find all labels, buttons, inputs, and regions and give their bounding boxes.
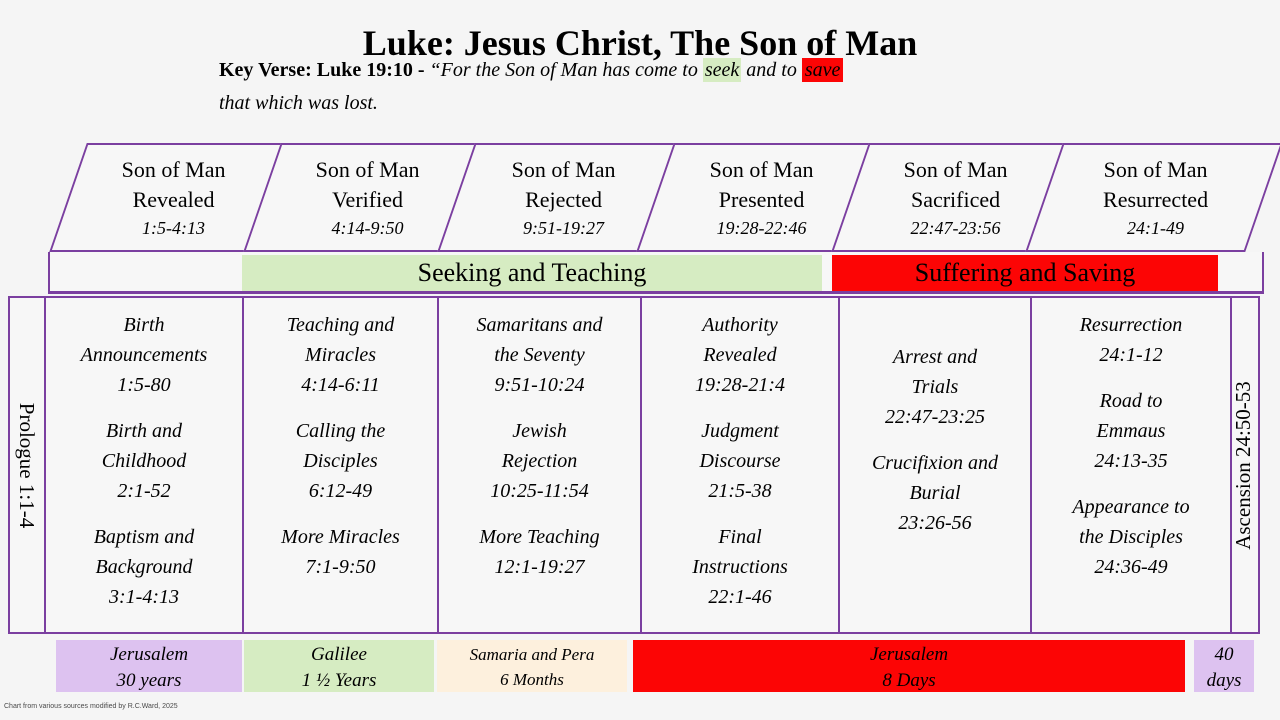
content-block-reference: 23:26-56 bbox=[846, 508, 1024, 538]
content-block-title-line: More Miracles bbox=[250, 522, 431, 552]
section-box-content: Son of ManVerified4:14-9:50 bbox=[266, 145, 470, 241]
content-column-1[interactable]: BirthAnnouncements1:5-80Birth andChildho… bbox=[46, 298, 242, 636]
content-block-title-line: Revealed bbox=[648, 340, 832, 370]
content-block: Birth andChildhood2:1-52 bbox=[52, 416, 236, 506]
main-content-grid: Prologue 1:1-4 Ascension 24:50-53 BirthA… bbox=[8, 296, 1260, 634]
content-block-title-line: Announcements bbox=[52, 340, 236, 370]
section-box-content: Son of ManRevealed1:5-4:13 bbox=[72, 145, 276, 241]
content-column-3[interactable]: Samaritans andthe Seventy9:51-10:24Jewis… bbox=[439, 298, 640, 636]
location-badge-1[interactable]: Jerusalem30 years bbox=[56, 640, 242, 692]
content-block: More Teaching12:1-19:27 bbox=[445, 522, 634, 582]
location-place: 40 bbox=[1194, 642, 1254, 668]
ascension-column: Ascension 24:50-53 bbox=[1228, 298, 1258, 632]
section-title-line1: Son of Man bbox=[266, 155, 470, 185]
section-reference: 1:5-4:13 bbox=[72, 215, 276, 241]
section-title-line1: Son of Man bbox=[72, 155, 276, 185]
content-block-reference: 9:51-10:24 bbox=[445, 370, 634, 400]
section-title-line2: Verified bbox=[266, 185, 470, 215]
content-block-title-line: Road to bbox=[1038, 386, 1224, 416]
section-title-line2: Presented bbox=[659, 185, 865, 215]
section-title-line2: Sacrificed bbox=[854, 185, 1058, 215]
content-block-title-line: Disciples bbox=[250, 446, 431, 476]
theme-band: Seeking and Teaching Suffering and Savin… bbox=[48, 252, 1264, 294]
key-verse-quote-mid: and to bbox=[741, 59, 802, 81]
content-block-title-line: Birth and bbox=[52, 416, 236, 446]
prologue-label: Prologue 1:1-4 bbox=[15, 402, 40, 527]
key-verse-highlight-save: save bbox=[802, 58, 844, 82]
content-block-title-line: More Teaching bbox=[445, 522, 634, 552]
content-block-reference: 21:5-38 bbox=[648, 476, 832, 506]
content-block: AuthorityRevealed19:28-21:4 bbox=[648, 310, 832, 400]
section-box-content: Son of ManResurrected24:1-49 bbox=[1048, 145, 1264, 241]
content-block-title-line: Birth bbox=[52, 310, 236, 340]
content-block-reference: 10:25-11:54 bbox=[445, 476, 634, 506]
content-block: Teaching andMiracles4:14-6:11 bbox=[250, 310, 431, 400]
content-block-reference: 7:1-9:50 bbox=[250, 552, 431, 582]
content-block: Arrest andTrials22:47-23:25 bbox=[846, 342, 1024, 432]
content-block: Resurrection24:1-12 bbox=[1038, 310, 1224, 370]
location-place: Jerusalem bbox=[633, 642, 1185, 668]
section-box-6[interactable]: Son of ManResurrected24:1-49 bbox=[1025, 143, 1280, 252]
section-title-line2: Resurrected bbox=[1048, 185, 1264, 215]
location-duration: 6 Months bbox=[437, 667, 627, 692]
content-block-title-line: Arrest and bbox=[846, 342, 1024, 372]
content-block-title-line: the Seventy bbox=[445, 340, 634, 370]
location-place: Galilee bbox=[244, 642, 434, 668]
content-block: Calling theDisciples6:12-49 bbox=[250, 416, 431, 506]
section-title-line1: Son of Man bbox=[854, 155, 1058, 185]
content-block-title-line: Background bbox=[52, 552, 236, 582]
key-verse: Key Verse: Luke 19:10 - “For the Son of … bbox=[219, 54, 1099, 120]
content-block-title-line: Emmaus bbox=[1038, 416, 1224, 446]
content-block-title-line: Baptism and bbox=[52, 522, 236, 552]
content-block-title-line: Trials bbox=[846, 372, 1024, 402]
content-block-title-line: Crucifixion and bbox=[846, 448, 1024, 478]
content-block-reference: 22:1-46 bbox=[648, 582, 832, 612]
content-block: Crucifixion andBurial23:26-56 bbox=[846, 448, 1024, 538]
content-block-title-line: Calling the bbox=[250, 416, 431, 446]
content-block: JudgmentDiscourse21:5-38 bbox=[648, 416, 832, 506]
key-verse-quote-open: “For the Son of Man has come to bbox=[430, 59, 703, 81]
key-verse-label: Key Verse: Luke 19:10 - bbox=[219, 59, 425, 81]
section-header-row: Son of ManRevealed1:5-4:13Son of ManVeri… bbox=[48, 143, 1264, 252]
content-block: More Miracles7:1-9:50 bbox=[250, 522, 431, 582]
content-block-title-line: Judgment bbox=[648, 416, 832, 446]
content-block-title-line: Authority bbox=[648, 310, 832, 340]
column-divider-7 bbox=[1230, 298, 1232, 632]
key-verse-highlight-seek: seek bbox=[703, 58, 741, 82]
prologue-column: Prologue 1:1-4 bbox=[10, 298, 44, 632]
location-badge-4[interactable]: Jerusalem8 Days bbox=[633, 640, 1185, 692]
credit-text: Chart from various sources modified by R… bbox=[4, 703, 178, 710]
content-block-reference: 3:1-4:13 bbox=[52, 582, 236, 612]
key-verse-quote-line2: that which was lost. bbox=[219, 87, 1099, 120]
content-block-title-line: Rejection bbox=[445, 446, 634, 476]
content-block-reference: 19:28-21:4 bbox=[648, 370, 832, 400]
location-duration: 1 ½ Years bbox=[244, 668, 434, 694]
content-block-title-line: Miracles bbox=[250, 340, 431, 370]
location-badge-2[interactable]: Galilee1 ½ Years bbox=[244, 640, 434, 692]
content-block-title-line: Teaching and bbox=[250, 310, 431, 340]
location-place: Jerusalem bbox=[56, 642, 242, 668]
location-duration: days bbox=[1194, 668, 1254, 694]
ascension-label: Ascension 24:50-53 bbox=[1231, 381, 1256, 550]
content-block-title-line: Burial bbox=[846, 478, 1024, 508]
content-block-reference: 24:1-12 bbox=[1038, 340, 1224, 370]
location-badge-3[interactable]: Samaria and Pera6 Months bbox=[437, 640, 627, 692]
content-block-title-line: Samaritans and bbox=[445, 310, 634, 340]
section-title-line2: Revealed bbox=[72, 185, 276, 215]
section-title-line2: Rejected bbox=[460, 185, 668, 215]
location-badge-5[interactable]: 40days bbox=[1194, 640, 1254, 692]
section-reference: 22:47-23:56 bbox=[854, 215, 1058, 241]
section-box-content: Son of ManPresented19:28-22:46 bbox=[659, 145, 865, 241]
location-duration: 8 Days bbox=[633, 668, 1185, 694]
content-block-title-line: the Disciples bbox=[1038, 522, 1224, 552]
content-block-reference: 1:5-80 bbox=[52, 370, 236, 400]
content-column-5[interactable]: Arrest andTrials22:47-23:25Crucifixion a… bbox=[840, 298, 1030, 636]
section-box-content: Son of ManRejected9:51-19:27 bbox=[460, 145, 668, 241]
content-column-2[interactable]: Teaching andMiracles4:14-6:11Calling the… bbox=[244, 298, 437, 636]
content-block: Samaritans andthe Seventy9:51-10:24 bbox=[445, 310, 634, 400]
content-block-reference: 24:13-35 bbox=[1038, 446, 1224, 476]
section-title-line1: Son of Man bbox=[659, 155, 865, 185]
content-block-reference: 4:14-6:11 bbox=[250, 370, 431, 400]
content-block: Road toEmmaus24:13-35 bbox=[1038, 386, 1224, 476]
location-duration-row: Jerusalem30 yearsGalilee1 ½ YearsSamaria… bbox=[0, 640, 1280, 698]
content-block-title-line: Resurrection bbox=[1038, 310, 1224, 340]
content-block-title-line: Childhood bbox=[52, 446, 236, 476]
location-duration: 30 years bbox=[56, 668, 242, 694]
content-block-title-line: Final bbox=[648, 522, 832, 552]
content-block: BirthAnnouncements1:5-80 bbox=[52, 310, 236, 400]
content-block-reference: 24:36-49 bbox=[1038, 552, 1224, 582]
content-block-title-line: Appearance to bbox=[1038, 492, 1224, 522]
section-reference: 9:51-19:27 bbox=[460, 215, 668, 241]
section-title-line1: Son of Man bbox=[460, 155, 668, 185]
content-block-title-line: Jewish bbox=[445, 416, 634, 446]
content-block: Appearance tothe Disciples24:36-49 bbox=[1038, 492, 1224, 582]
section-title-line1: Son of Man bbox=[1048, 155, 1264, 185]
content-block-reference: 6:12-49 bbox=[250, 476, 431, 506]
section-reference: 19:28-22:46 bbox=[659, 215, 865, 241]
section-reference: 24:1-49 bbox=[1048, 215, 1264, 241]
theme-seeking-and-teaching: Seeking and Teaching bbox=[242, 255, 822, 291]
section-box-content: Son of ManSacrificed22:47-23:56 bbox=[854, 145, 1058, 241]
section-reference: 4:14-9:50 bbox=[266, 215, 470, 241]
content-block-title-line: Instructions bbox=[648, 552, 832, 582]
content-block-title-line: Discourse bbox=[648, 446, 832, 476]
content-block-reference: 2:1-52 bbox=[52, 476, 236, 506]
content-block-reference: 12:1-19:27 bbox=[445, 552, 634, 582]
location-place: Samaria and Pera bbox=[437, 642, 627, 667]
content-block: JewishRejection10:25-11:54 bbox=[445, 416, 634, 506]
content-column-4[interactable]: AuthorityRevealed19:28-21:4JudgmentDisco… bbox=[642, 298, 838, 636]
content-block: FinalInstructions22:1-46 bbox=[648, 522, 832, 612]
content-block: Baptism andBackground3:1-4:13 bbox=[52, 522, 236, 612]
theme-suffering-and-saving: Suffering and Saving bbox=[832, 255, 1218, 291]
content-column-6[interactable]: Resurrection24:1-12Road toEmmaus24:13-35… bbox=[1032, 298, 1230, 636]
content-block-reference: 22:47-23:25 bbox=[846, 402, 1024, 432]
